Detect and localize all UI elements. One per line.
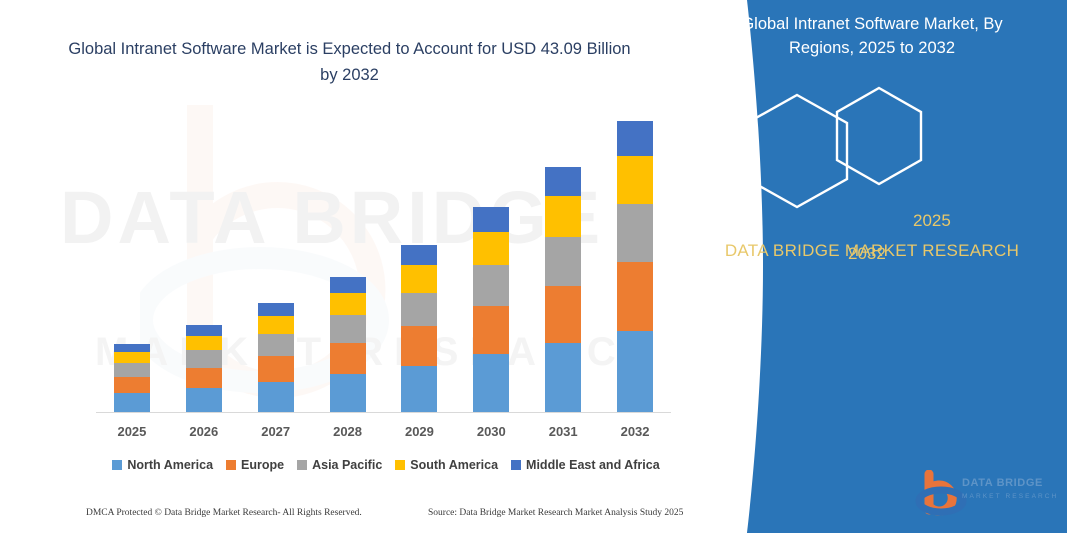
legend-label: Middle East and Africa bbox=[526, 458, 660, 472]
footer-logo-tagline: MARKET RESEARCH bbox=[962, 490, 1058, 503]
bar-segment-south-america bbox=[473, 232, 509, 266]
legend-swatch-icon bbox=[395, 460, 405, 470]
footer-copyright: DMCA Protected © Data Bridge Market Rese… bbox=[86, 508, 362, 518]
legend-item-middle-east-and-africa[interactable]: Middle East and Africa bbox=[511, 458, 660, 472]
bar-segment-asia-pacific bbox=[545, 237, 581, 286]
bar-2025 bbox=[114, 344, 150, 413]
x-label-2031: 2031 bbox=[527, 424, 599, 439]
bar-2030 bbox=[473, 207, 509, 413]
bar-2027 bbox=[258, 303, 294, 413]
x-axis-line bbox=[96, 412, 671, 413]
bar-segment-south-america bbox=[545, 196, 581, 237]
bar-segment-europe bbox=[545, 286, 581, 343]
bar-segment-south-america bbox=[258, 316, 294, 334]
bar-segment-north-america bbox=[114, 393, 150, 413]
bar-2032 bbox=[617, 121, 653, 413]
bar-segment-middle-east-and-africa bbox=[114, 344, 150, 352]
legend-label: South America bbox=[410, 458, 498, 472]
bar-segment-middle-east-and-africa bbox=[186, 325, 222, 336]
x-label-2027: 2027 bbox=[240, 424, 312, 439]
bar-segment-asia-pacific bbox=[617, 204, 653, 263]
chart-legend: North AmericaEuropeAsia PacificSouth Ame… bbox=[96, 455, 676, 475]
right-brand-panel: Global Intranet Software Market, By Regi… bbox=[667, 0, 1067, 533]
bar-segment-middle-east-and-africa bbox=[401, 245, 437, 265]
bar-segment-asia-pacific bbox=[473, 265, 509, 306]
bar-segment-asia-pacific bbox=[186, 350, 222, 367]
bar-segment-europe bbox=[258, 356, 294, 382]
legend-item-asia-pacific[interactable]: Asia Pacific bbox=[297, 458, 382, 472]
bar-segment-middle-east-and-africa bbox=[473, 207, 509, 231]
footer-source: Source: Data Bridge Market Research Mark… bbox=[428, 508, 683, 518]
hexagon-2025-icon bbox=[837, 88, 921, 184]
legend-label: Europe bbox=[241, 458, 284, 472]
bar-segment-middle-east-and-africa bbox=[330, 277, 366, 293]
stacked-bar-chart bbox=[96, 120, 671, 413]
bar-segment-north-america bbox=[258, 382, 294, 413]
bar-2028 bbox=[330, 277, 366, 413]
legend-label: North America bbox=[127, 458, 213, 472]
hexagon-2032-icon bbox=[747, 95, 847, 207]
bar-2031 bbox=[545, 167, 581, 413]
bar-segment-europe bbox=[473, 306, 509, 354]
bar-segment-south-america bbox=[186, 336, 222, 350]
infographic-canvas: DATA BRIDGE MARKET RESEARCH Global Intra… bbox=[0, 0, 1067, 533]
hexagon-2025-label: 2025 bbox=[913, 211, 951, 231]
x-label-2032: 2032 bbox=[599, 424, 671, 439]
legend-swatch-icon bbox=[226, 460, 236, 470]
brand-name: DATA BRIDGE MARKET RESEARCH bbox=[707, 237, 1037, 264]
bar-segment-north-america bbox=[330, 374, 366, 413]
bar-segment-south-america bbox=[401, 265, 437, 292]
bar-segment-europe bbox=[401, 326, 437, 365]
bar-segment-south-america bbox=[330, 293, 366, 315]
footer-logo-text: DATA BRIDGE MARKET RESEARCH bbox=[962, 477, 1058, 503]
x-label-2029: 2029 bbox=[383, 424, 455, 439]
x-label-2025: 2025 bbox=[96, 424, 168, 439]
x-label-2030: 2030 bbox=[455, 424, 527, 439]
legend-item-north-america[interactable]: North America bbox=[112, 458, 213, 472]
bar-segment-europe bbox=[330, 343, 366, 375]
bar-segment-south-america bbox=[114, 352, 150, 363]
legend-swatch-icon bbox=[511, 460, 521, 470]
legend-swatch-icon bbox=[112, 460, 122, 470]
legend-swatch-icon bbox=[297, 460, 307, 470]
bar-segment-asia-pacific bbox=[258, 334, 294, 356]
bar-segment-asia-pacific bbox=[401, 293, 437, 327]
bar-segment-south-america bbox=[617, 156, 653, 204]
chart-title: Global Intranet Software Market is Expec… bbox=[62, 36, 637, 88]
bar-2026 bbox=[186, 325, 222, 413]
x-axis-labels: 20252026202720282029203020312032 bbox=[96, 424, 671, 446]
bar-segment-europe bbox=[186, 368, 222, 389]
x-label-2028: 2028 bbox=[312, 424, 384, 439]
footer-logo-name: DATA BRIDGE bbox=[962, 477, 1043, 489]
bar-segment-europe bbox=[617, 262, 653, 331]
bar-segment-asia-pacific bbox=[330, 315, 366, 342]
bar-segment-europe bbox=[114, 377, 150, 393]
bar-segment-north-america bbox=[473, 354, 509, 413]
hexagon-group: 2025 2032 bbox=[727, 85, 1047, 215]
legend-item-europe[interactable]: Europe bbox=[226, 458, 284, 472]
bar-segment-middle-east-and-africa bbox=[258, 303, 294, 316]
bar-segment-north-america bbox=[186, 388, 222, 413]
bar-segment-north-america bbox=[545, 343, 581, 413]
legend-item-south-america[interactable]: South America bbox=[395, 458, 498, 472]
legend-label: Asia Pacific bbox=[312, 458, 382, 472]
bar-segment-asia-pacific bbox=[114, 363, 150, 377]
x-label-2026: 2026 bbox=[168, 424, 240, 439]
bar-segment-middle-east-and-africa bbox=[545, 167, 581, 196]
bar-segment-middle-east-and-africa bbox=[617, 121, 653, 156]
bar-2029 bbox=[401, 245, 437, 413]
bar-segment-north-america bbox=[401, 366, 437, 413]
panel-shape bbox=[667, 0, 1067, 533]
panel-title: Global Intranet Software Market, By Regi… bbox=[707, 12, 1037, 60]
bar-segment-north-america bbox=[617, 331, 653, 413]
